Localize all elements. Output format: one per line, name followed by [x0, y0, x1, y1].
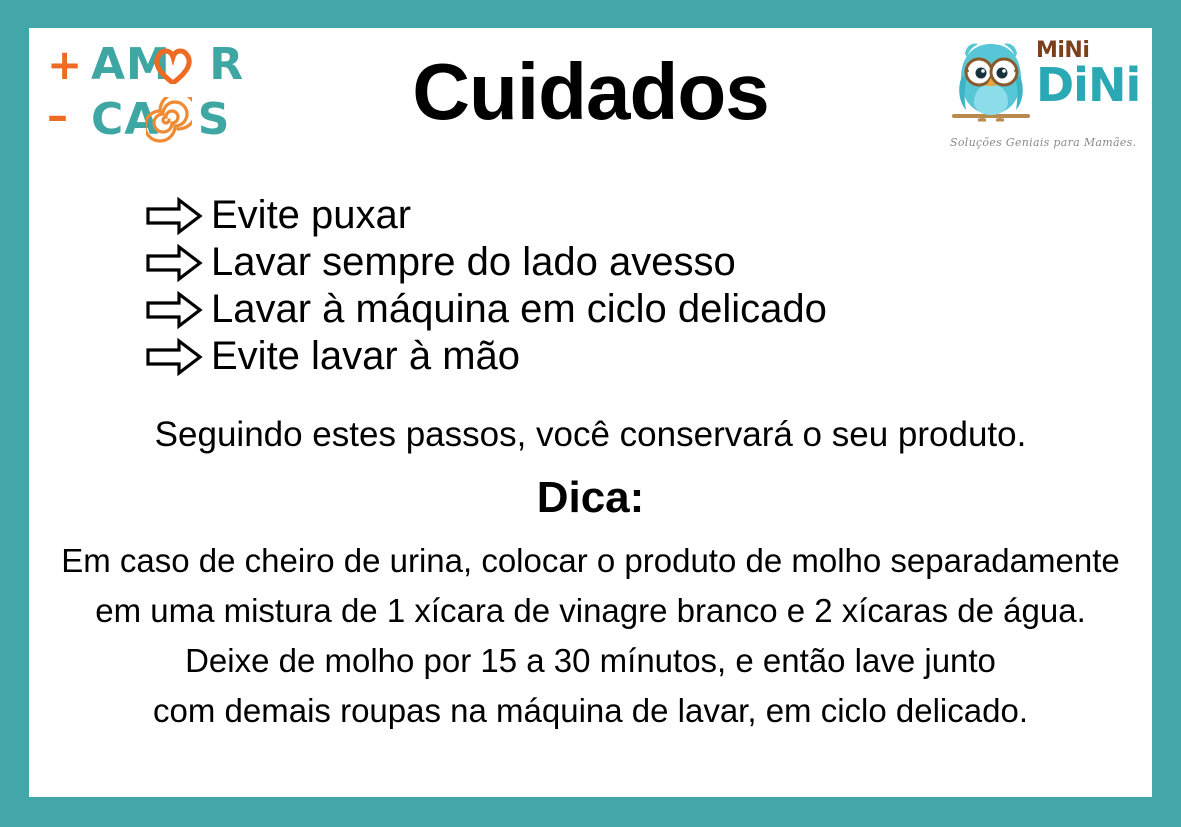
list-item-label: Evite puxar	[211, 192, 411, 239]
list-item: Evite puxar	[145, 192, 1152, 239]
tip-line: em uma mistura de 1 xícara de vinagre br…	[29, 586, 1152, 636]
list-item-label: Lavar à máquina em ciclo delicado	[211, 286, 827, 333]
list-item-label: Lavar sempre do lado avesso	[211, 239, 736, 286]
card-header: + AMOR – CAOS	[29, 28, 1152, 168]
care-instruction-list: Evite puxar Lavar sempre do lado avesso …	[145, 192, 1152, 380]
brand-wordmark: MiNi DiNi	[1036, 40, 1136, 108]
tip-line: com demais roupas na máquina de lavar, e…	[29, 686, 1152, 736]
brand-dini-text: DiNi	[1036, 62, 1136, 108]
conclusion-text: Seguindo estes passos, você conservará o…	[29, 414, 1152, 456]
care-instructions-card: + AMOR – CAOS	[0, 0, 1181, 827]
right-arrow-outline-icon	[145, 196, 203, 236]
list-item: Lavar à máquina em ciclo delicado	[145, 286, 1152, 333]
card-inner-panel: + AMOR – CAOS	[29, 28, 1152, 797]
tip-line: Deixe de molho por 15 a 30 mínutos, e en…	[29, 636, 1152, 686]
tip-body: Em caso de cheiro de urina, colocar o pr…	[29, 536, 1152, 736]
tip-heading: Dica:	[29, 472, 1152, 524]
right-arrow-outline-icon	[145, 337, 203, 377]
right-arrow-outline-icon	[145, 290, 203, 330]
list-item: Evite lavar à mão	[145, 333, 1152, 380]
list-item-label: Evite lavar à mão	[211, 333, 520, 380]
list-item: Lavar sempre do lado avesso	[145, 239, 1152, 286]
mini-dini-logo: MiNi DiNi Soluções Geniais para Mamães.	[948, 34, 1138, 164]
tip-line: Em caso de cheiro de urina, colocar o pr…	[29, 536, 1152, 586]
right-arrow-outline-icon	[145, 243, 203, 283]
owl-icon	[948, 38, 1034, 130]
brand-tagline: Soluções Geniais para Mamães.	[950, 136, 1136, 149]
